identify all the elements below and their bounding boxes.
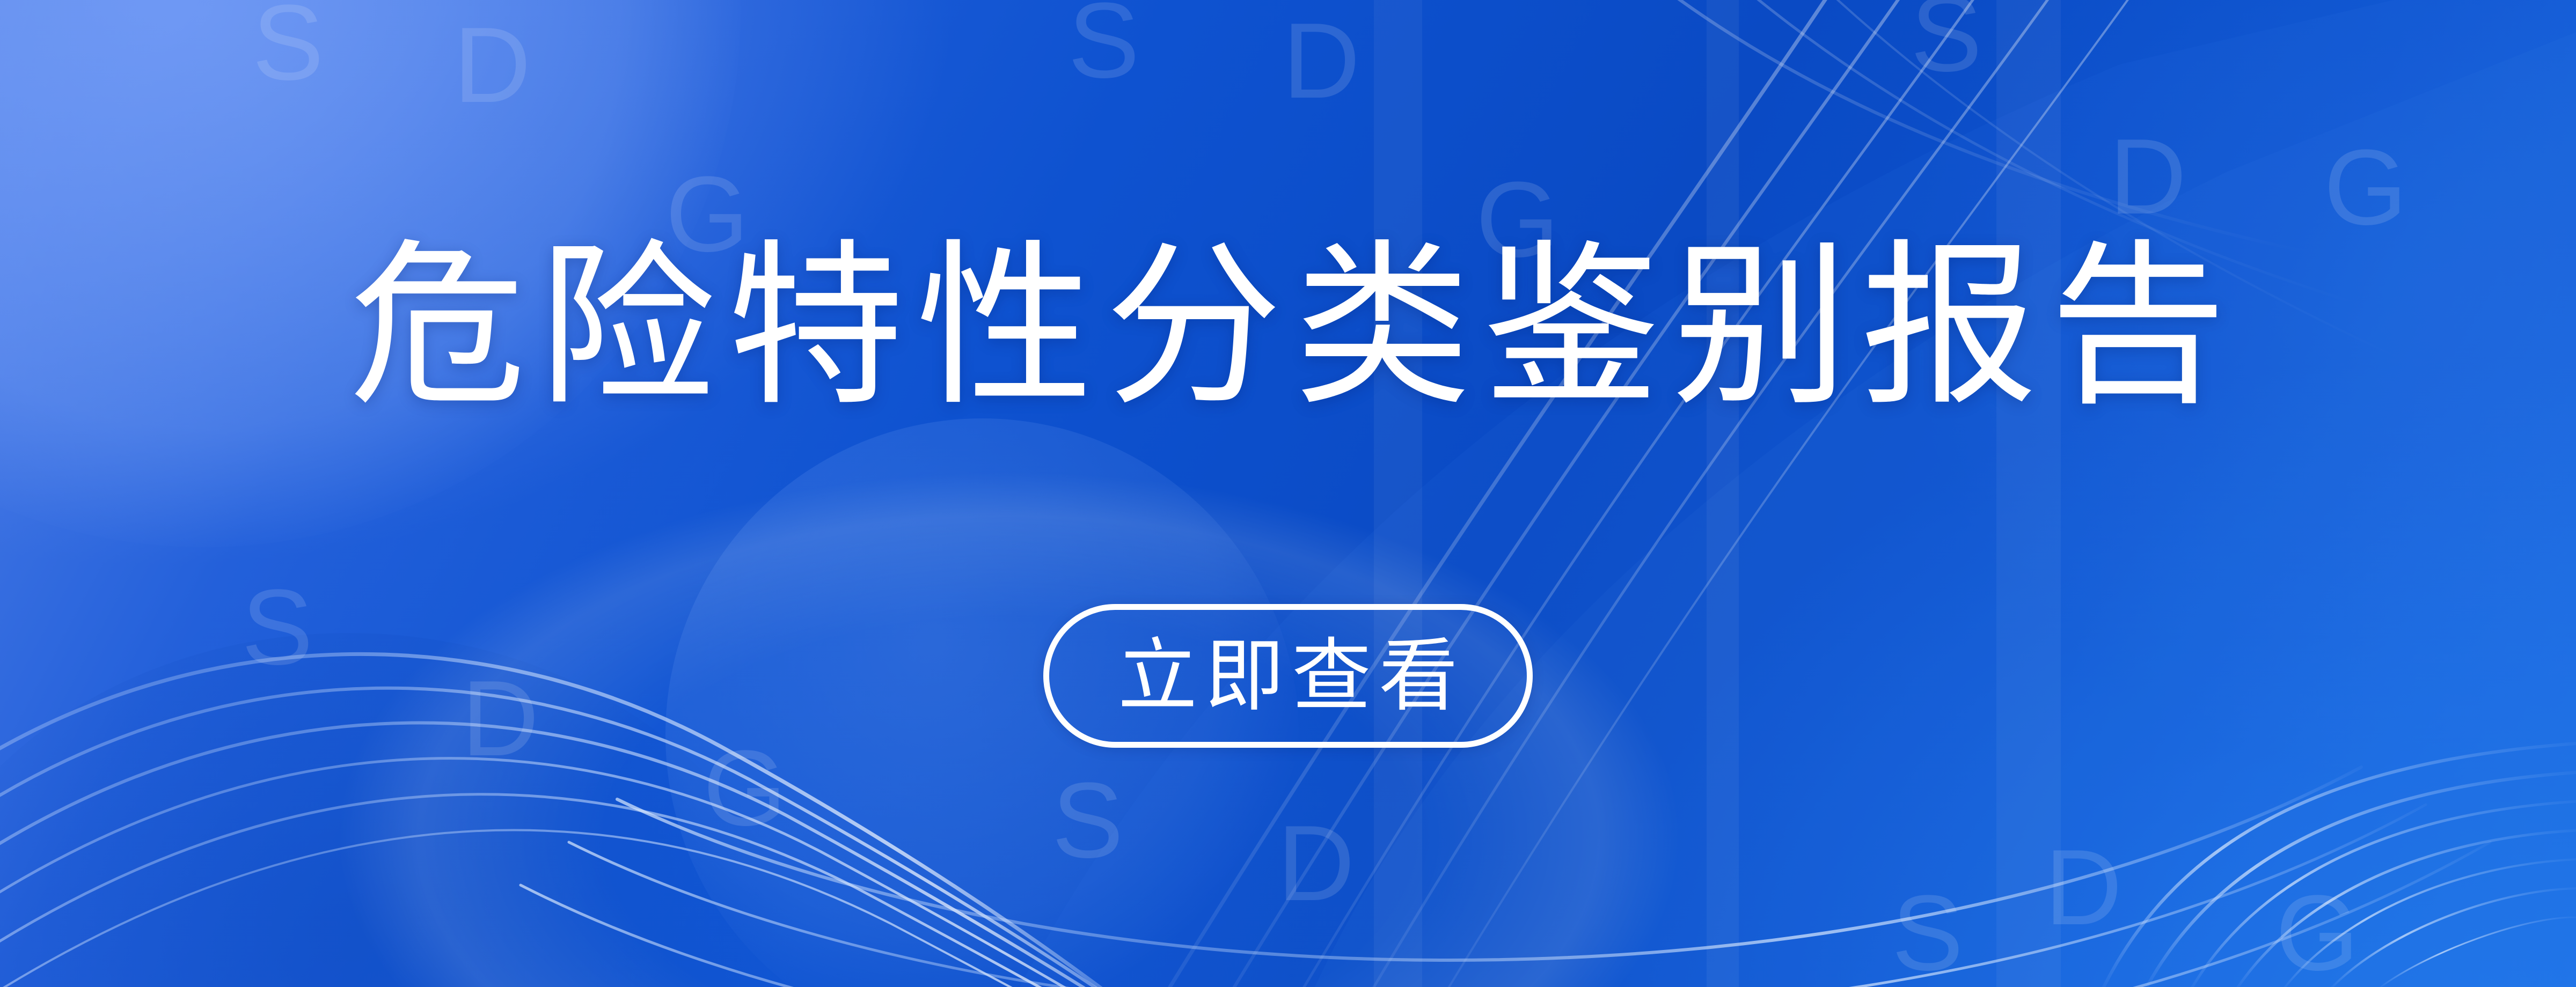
banner-content: 危险特性分类鉴别报告 立即查看 [0,0,2576,987]
view-now-button-label: 立即查看 [1110,636,1466,716]
view-now-button[interactable]: 立即查看 [1043,604,1533,748]
hazard-report-banner: S D G S D G S D G S D G S D S D G 危险特性分类… [0,0,2576,987]
page-title: 危险特性分类鉴别报告 [338,228,2238,426]
